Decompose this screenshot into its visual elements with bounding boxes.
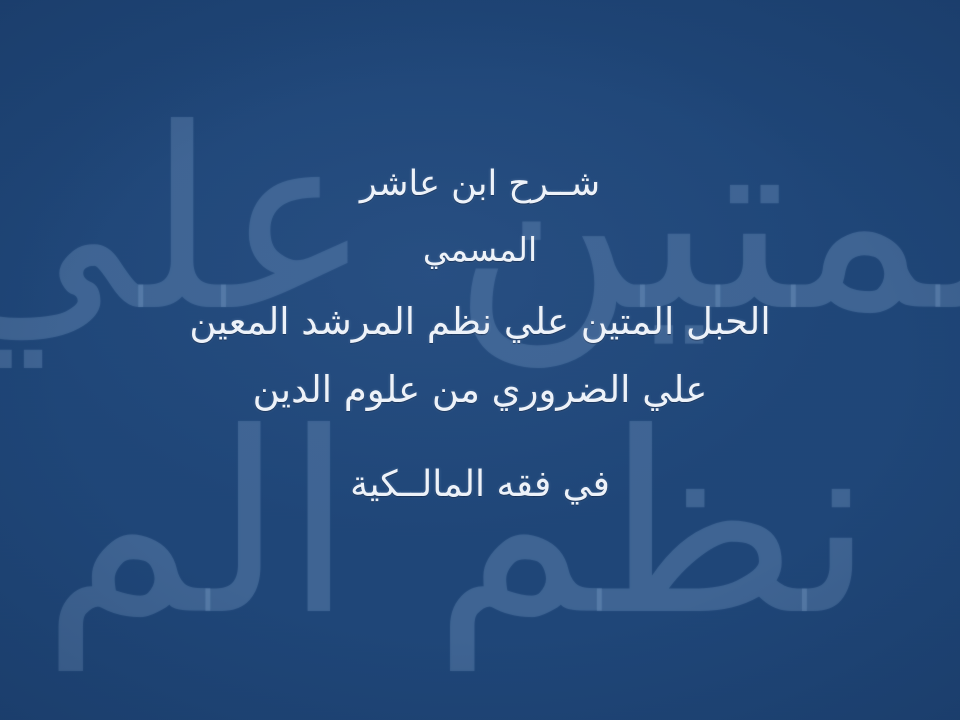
title-line-madhhab: في فقه المالــكية <box>0 466 960 504</box>
title-slide: لمتين علي نة نظم الم شــرح ابن عاشر المس… <box>0 0 960 720</box>
title-line-named: المسمي <box>0 233 960 268</box>
title-line-commentary-name: شــرح ابن عاشر <box>0 166 960 203</box>
title-line-subtitle: علي الضروري من علوم الدين <box>0 371 960 410</box>
title-line-main-title: الحبل المتين علي نظم المرشد المعين <box>0 303 960 342</box>
title-text-block: شــرح ابن عاشر المسمي الحبل المتين علي ن… <box>0 0 960 720</box>
